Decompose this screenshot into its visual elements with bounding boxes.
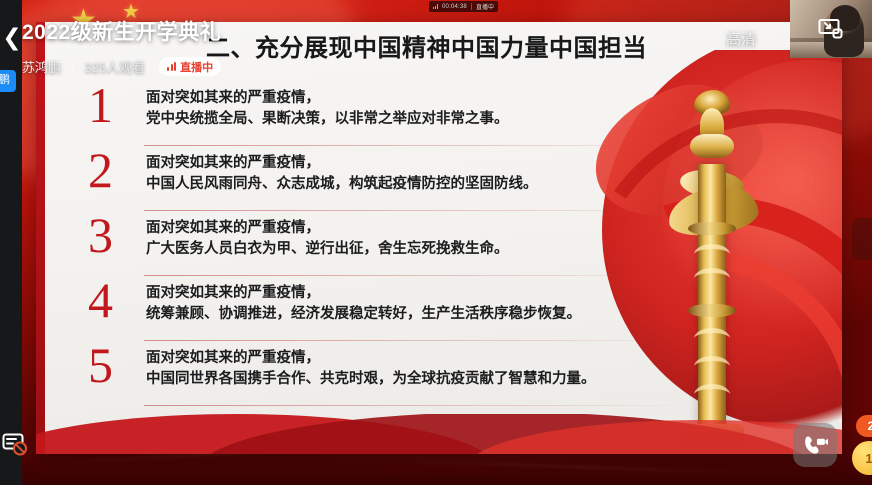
- camera-pip-thumbnail[interactable]: [790, 0, 872, 58]
- panel-handle-icon[interactable]: [852, 218, 872, 260]
- list-item-divider: [144, 210, 700, 211]
- list-item-line1: 面对突如其来的严重疫情，: [146, 88, 706, 109]
- list-item: 2 面对突如其来的严重疫情， 中国人民风雨同舟、众志成城，构筑起疫情防控的坚固防…: [60, 151, 700, 216]
- stream-timer: 00:04:38: [442, 4, 467, 10]
- list-item-number: 4: [88, 275, 113, 325]
- video-call-button[interactable]: [793, 423, 837, 467]
- pill-divider: [471, 3, 472, 10]
- list-item-line1: 面对突如其来的严重疫情，: [146, 348, 706, 369]
- list-item: 3 面对突如其来的严重疫情， 广大医务人员白衣为甲、逆行出征，舍生忘死挽救生命。: [60, 216, 700, 281]
- status-badge: 直播中: [159, 57, 221, 76]
- list-item-line2: 广大医务人员白衣为甲、逆行出征，舍生忘死挽救生命。: [146, 239, 706, 260]
- list-item-number: 5: [88, 340, 113, 390]
- slide-left-accent-bar: [36, 22, 45, 454]
- list-item-divider: [144, 340, 700, 341]
- slide-title: 二、充分展现中国精神中国力量中国担当: [206, 28, 647, 63]
- list-item: 1 面对突如其来的严重疫情， 党中央统揽全局、果断决策，以非常之举应对非常之事。: [60, 86, 700, 151]
- list-item-number: 3: [88, 210, 113, 260]
- list-item-divider: [144, 275, 700, 276]
- flag-star-icon: ★: [122, 2, 140, 22]
- list-item-line1: 面对突如其来的严重疫情，: [146, 283, 706, 304]
- list-item-line2: 党中央统揽全局、果断决策，以非常之举应对非常之事。: [146, 109, 706, 130]
- live-stream-screen: ★ ★ ★ ★ ★: [0, 0, 872, 485]
- list-item: 4 面对突如其来的严重疫情， 统筹兼顾、协调推进，经济发展稳定转好，生产生活秩序…: [60, 281, 700, 346]
- list-item-line2: 中国人民风雨同舟、众志成城，构筑起疫情防控的坚固防线。: [146, 174, 706, 195]
- list-item: 5 面对突如其来的严重疫情， 中国同世界各国携手合作、共克时艰，为全球抗疫贡献了…: [60, 346, 700, 411]
- list-item-divider: [144, 405, 700, 406]
- notification-badge-orange[interactable]: 2: [856, 415, 872, 437]
- restore-window-icon[interactable]: [818, 16, 844, 40]
- host-name-chip[interactable]: 鸿鹏: [0, 70, 16, 92]
- comments-disabled-icon[interactable]: [2, 432, 28, 456]
- list-item-divider: [144, 145, 700, 146]
- list-item-line1: 面对突如其来的严重疫情，: [146, 218, 706, 239]
- signal-bars-icon: [167, 62, 176, 71]
- video-call-icon: [802, 433, 829, 458]
- list-item-line2: 统筹兼顾、协调推进，经济发展稳定转好，生产生活秩序稳步恢复。: [146, 304, 706, 325]
- list-item-number: 2: [88, 145, 113, 195]
- signal-bars-small-icon: [433, 4, 438, 9]
- back-arrow-icon[interactable]: ❮: [2, 25, 22, 51]
- pill-live-label: 直播中: [476, 2, 494, 11]
- quality-selector[interactable]: 高清: [726, 28, 756, 49]
- live-badge-label: 直播中: [180, 59, 213, 75]
- list-item-line2: 中国同世界各国携手合作、共克时艰，为全球抗疫贡献了智慧和力量。: [146, 369, 706, 390]
- list-item-line1: 面对突如其来的严重疫情，: [146, 153, 706, 174]
- slide-bottom-waves: [36, 414, 842, 454]
- list-item-number: 1: [88, 80, 113, 130]
- slide-list: 1 面对突如其来的严重疫情， 党中央统揽全局、果断决策，以非常之举应对非常之事。…: [60, 86, 700, 411]
- recording-status-pill: 00:04:38 直播中: [429, 1, 498, 12]
- presentation-slide[interactable]: 二、充分展现中国精神中国力量中国担当 1 面对突如其来的严重疫情， 党中央统揽全…: [36, 22, 842, 454]
